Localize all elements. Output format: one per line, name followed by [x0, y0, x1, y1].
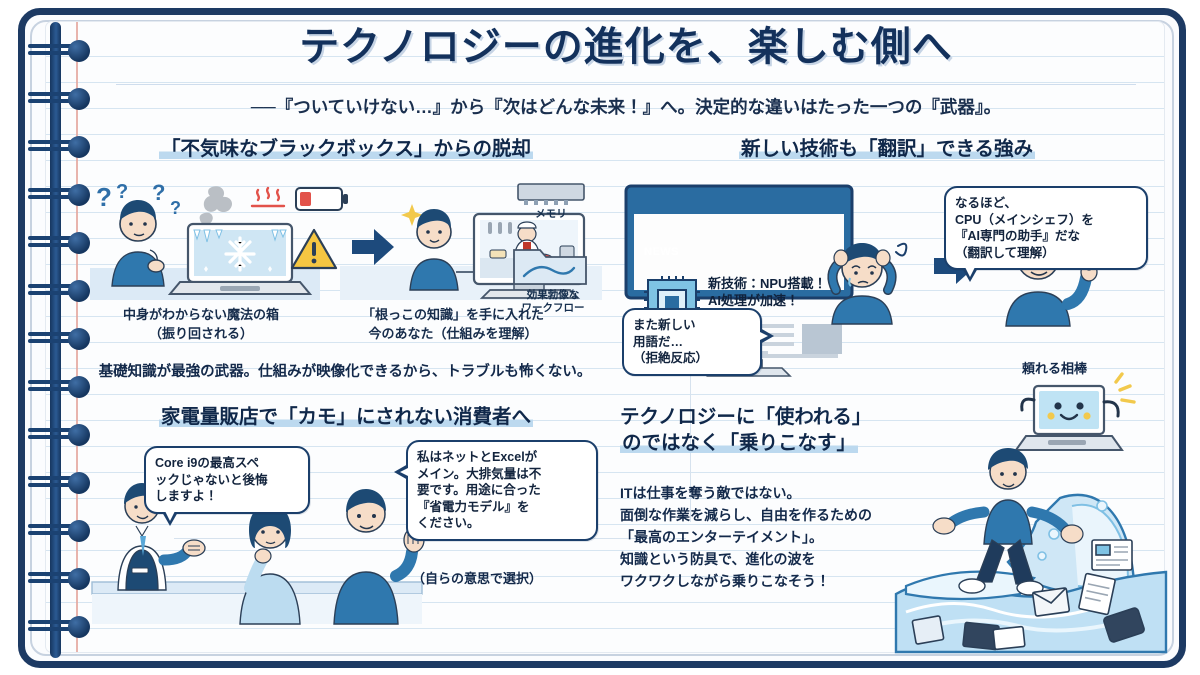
stressed-person	[814, 228, 924, 324]
section-heading-translate: 新しい技術も「翻訳」できる強み	[618, 136, 1156, 162]
svg-text:?: ?	[116, 181, 128, 203]
folder-icon	[510, 242, 590, 288]
bubble-clerk-pitch: Core i9の最高スペ ックじゃないと後悔 しますよ！	[144, 446, 310, 514]
frozen-laptop-icon	[170, 224, 310, 294]
caption-before-line1: 中身がわからない魔法の箱	[96, 306, 306, 325]
caption-after: 「根っこの知識」を手に入れた 今のあなた（仕組みを理解）	[338, 306, 568, 344]
smoke-icon	[200, 186, 232, 224]
bubble-customer-line3: 要です。用途に合った	[417, 482, 587, 499]
bubble-rejection-line1: また新しい	[633, 317, 751, 334]
footnote-own-choice: （自らの意思で選択）	[412, 568, 542, 587]
confused-person	[112, 200, 164, 286]
bubble-translation: なるほど、 CPU（メインシェフ）を 『AI専門の助手』だな （翻訳して理解）	[944, 186, 1148, 270]
bubble-customer-line4: 『省電力モデル』を	[417, 499, 587, 516]
quadrant-top-right: 新しい技術も「翻訳」できる強み NEWS	[618, 136, 1156, 384]
battery-low-icon	[296, 188, 348, 210]
bubble-translation-line1: なるほど、	[955, 195, 1137, 212]
bubble-clerk-line1: Core i9の最高スペ	[155, 455, 299, 472]
bubble-translation-line2: CPU（メインシェフ）を	[955, 212, 1137, 229]
surfer-svg	[896, 436, 1166, 650]
bubble-rejection-line3: （拒絶反応）	[633, 350, 751, 367]
spiral-ring	[28, 90, 90, 105]
bubble-clerk-line3: しますよ！	[155, 488, 299, 505]
svg-text:?: ?	[96, 182, 112, 212]
infographic-page: テクノロジーの進化を、楽しむ側へ ──『ついていけない…』から『次はどんな未来！…	[0, 0, 1200, 675]
bubble-rejection-line2: 用語だ…	[633, 334, 751, 351]
label-buddy: 頼れる相棒	[1022, 358, 1087, 377]
bubble-translation-line4: （翻訳して理解）	[955, 245, 1137, 262]
bubble-customer-line5: ください。	[417, 515, 587, 532]
bubble-rejection: また新しい 用語だ… （拒絶反応）	[622, 308, 762, 376]
ride-wave-line2: のではなく「乗りこなす」	[620, 432, 858, 454]
page-subtitle: ──『ついていけない…』から『次はどんな未来！』へ。決定的な違いはたった一つの『…	[116, 84, 1136, 119]
bubble-customer-choice: 私はネットとExcelが メイン。大排気量は不 要です。用途に合った 『省電力モ…	[406, 440, 598, 541]
section-heading-shopper: 家電量販店で「カモ」にされない消費者へ	[86, 404, 606, 430]
arrow-icon	[352, 229, 394, 265]
workflow-folder: 効果勃像な ワークフロー	[510, 242, 610, 315]
news-tag: NEWS	[644, 246, 679, 258]
bubble-clerk-line2: ックじゃないと後悔	[155, 472, 299, 489]
svg-text:?: ?	[170, 198, 181, 218]
bubble-translation-line3: 『AI専門の助手』だな	[955, 228, 1137, 245]
caption-after-line1: 「根っこの知識」を手に入れた	[338, 306, 568, 325]
page-title: テクノロジーの進化を、楽しむ側へ	[116, 24, 1136, 70]
caption-before-line2: （振り回される）	[96, 325, 306, 344]
spiral-ring	[28, 42, 90, 57]
memory-module: メモリ	[516, 180, 602, 221]
ride-wave-line1: テクノロジーに「使われる」	[620, 406, 871, 428]
quadrant-bottom-right: テクノロジーに「使われる」 のではなく「乗りこなす」 ITは仕事を奪う敵ではない…	[618, 404, 1156, 646]
customer-woman	[240, 504, 300, 624]
content-grid: 「不気味なブラックボックス」からの脱却 ? ? ? ?	[78, 136, 1158, 646]
quadrant-top-left: 「不気味なブラックボックス」からの脱却 ? ? ? ?	[86, 136, 606, 384]
caption-before: 中身がわからない魔法の箱 （振り回される）	[96, 306, 306, 344]
header: テクノロジーの進化を、楽しむ側へ ──『ついていけない…』から『次はどんな未来！…	[116, 24, 1136, 119]
surfer-illustration	[896, 436, 1166, 650]
quadrant-bottom-left: 家電量販店で「カモ」にされない消費者へ	[86, 404, 606, 646]
label-workflow-line1: 効果勃像な	[510, 289, 596, 302]
section-heading-blackbox: 「不気味なブラックボックス」からの脱却	[86, 136, 606, 162]
svg-text:?: ?	[152, 180, 165, 205]
heat-waves-icon	[252, 188, 284, 206]
bubble-customer-line1: 私はネットとExcelが	[417, 449, 587, 466]
warning-icon	[292, 230, 336, 268]
bubble-customer-line2: メイン。大排気量は不	[417, 466, 587, 483]
label-memory: メモリ	[516, 208, 586, 221]
summary-blackbox: 基礎知識が最強の武器。仕組みが映像化できるから、トラブルも怖くない。	[80, 360, 610, 381]
caption-after-line2: 今のあなた（仕組みを理解）	[338, 325, 568, 344]
